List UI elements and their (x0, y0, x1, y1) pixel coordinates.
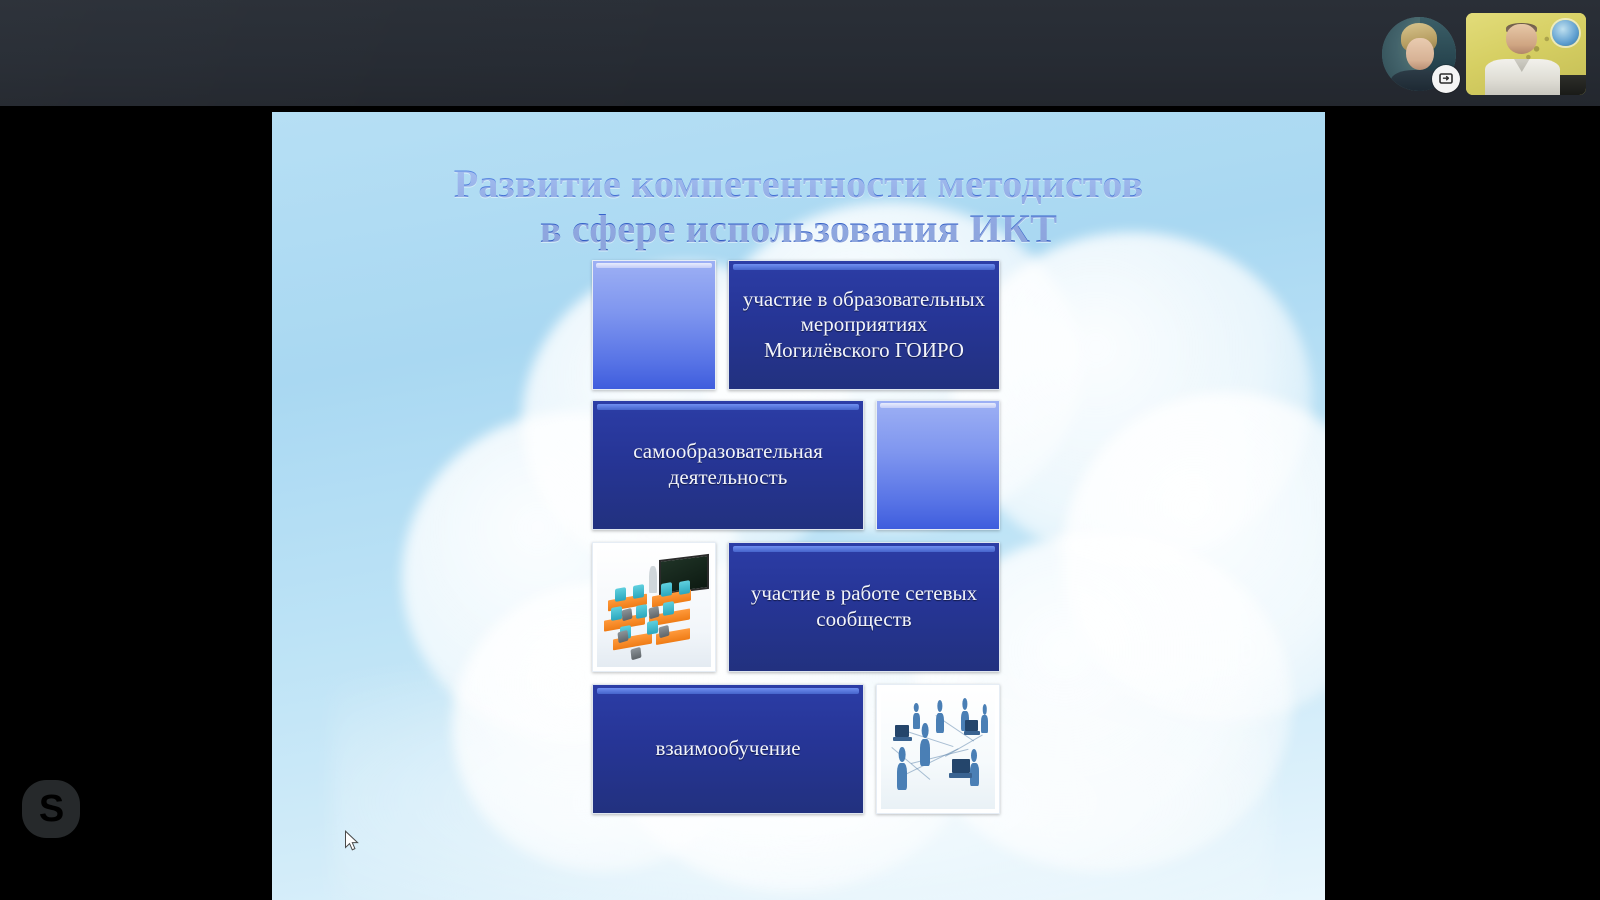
slide-row: участие в работе сетевых сообществ (592, 542, 1000, 672)
lab-monitor (636, 604, 647, 619)
people-network-photo-inner (881, 689, 995, 809)
lab-person (649, 566, 657, 592)
computer-lab-photo-inner (597, 547, 711, 667)
image-placeholder-blue (592, 260, 716, 390)
slide-text-box: участие в образовательных мероприятиях М… (728, 260, 1000, 390)
slide-row: взаимообучение (592, 684, 1000, 814)
network-person (936, 713, 944, 733)
network-person (920, 739, 930, 765)
slide-row: самообразовательная деятельность (592, 400, 1000, 530)
network-person (913, 713, 920, 729)
slide-row: участие в образовательных мероприятиях М… (592, 260, 1000, 390)
image-placeholder-blue (876, 400, 1000, 530)
network-person (897, 763, 907, 789)
network-laptop (952, 759, 970, 773)
lab-monitor (663, 601, 674, 616)
participant-2-face (1506, 24, 1537, 54)
network-laptop (895, 725, 910, 737)
lab-chair (631, 646, 642, 659)
lab-monitor (615, 587, 626, 602)
top-bar-sheen (0, 0, 860, 106)
network-person (981, 715, 988, 733)
skype-call-window: S Развитие компетентности методистов в с… (0, 0, 1600, 900)
people-network-photo (876, 684, 1000, 814)
skype-logo: S (22, 780, 80, 838)
participant-video-rect[interactable] (1466, 13, 1586, 95)
network-laptop (965, 720, 978, 731)
call-top-bar (0, 0, 1600, 106)
slide-text-box: самообразовательная деятельность (592, 400, 864, 530)
lab-monitor (661, 582, 672, 597)
slide-text-box: участие в работе сетевых сообществ (728, 542, 1000, 672)
participant-1-face (1406, 38, 1434, 71)
participant-2-wall-poster (1552, 20, 1578, 46)
slide-text-box: взаимообучение (592, 684, 864, 814)
shared-slide: Развитие компетентности методистов в сфе… (272, 112, 1325, 900)
participant-video-strip (1382, 8, 1586, 100)
slide-content-rows: участие в образовательных мероприятиях М… (272, 112, 1325, 900)
screen-share-badge-icon (1432, 65, 1460, 93)
lab-monitor (611, 606, 622, 621)
computer-lab-photo (592, 542, 716, 672)
lab-monitor (679, 580, 690, 595)
participant-tile-2[interactable] (1466, 13, 1586, 95)
participant-tile-1[interactable] (1382, 17, 1456, 91)
